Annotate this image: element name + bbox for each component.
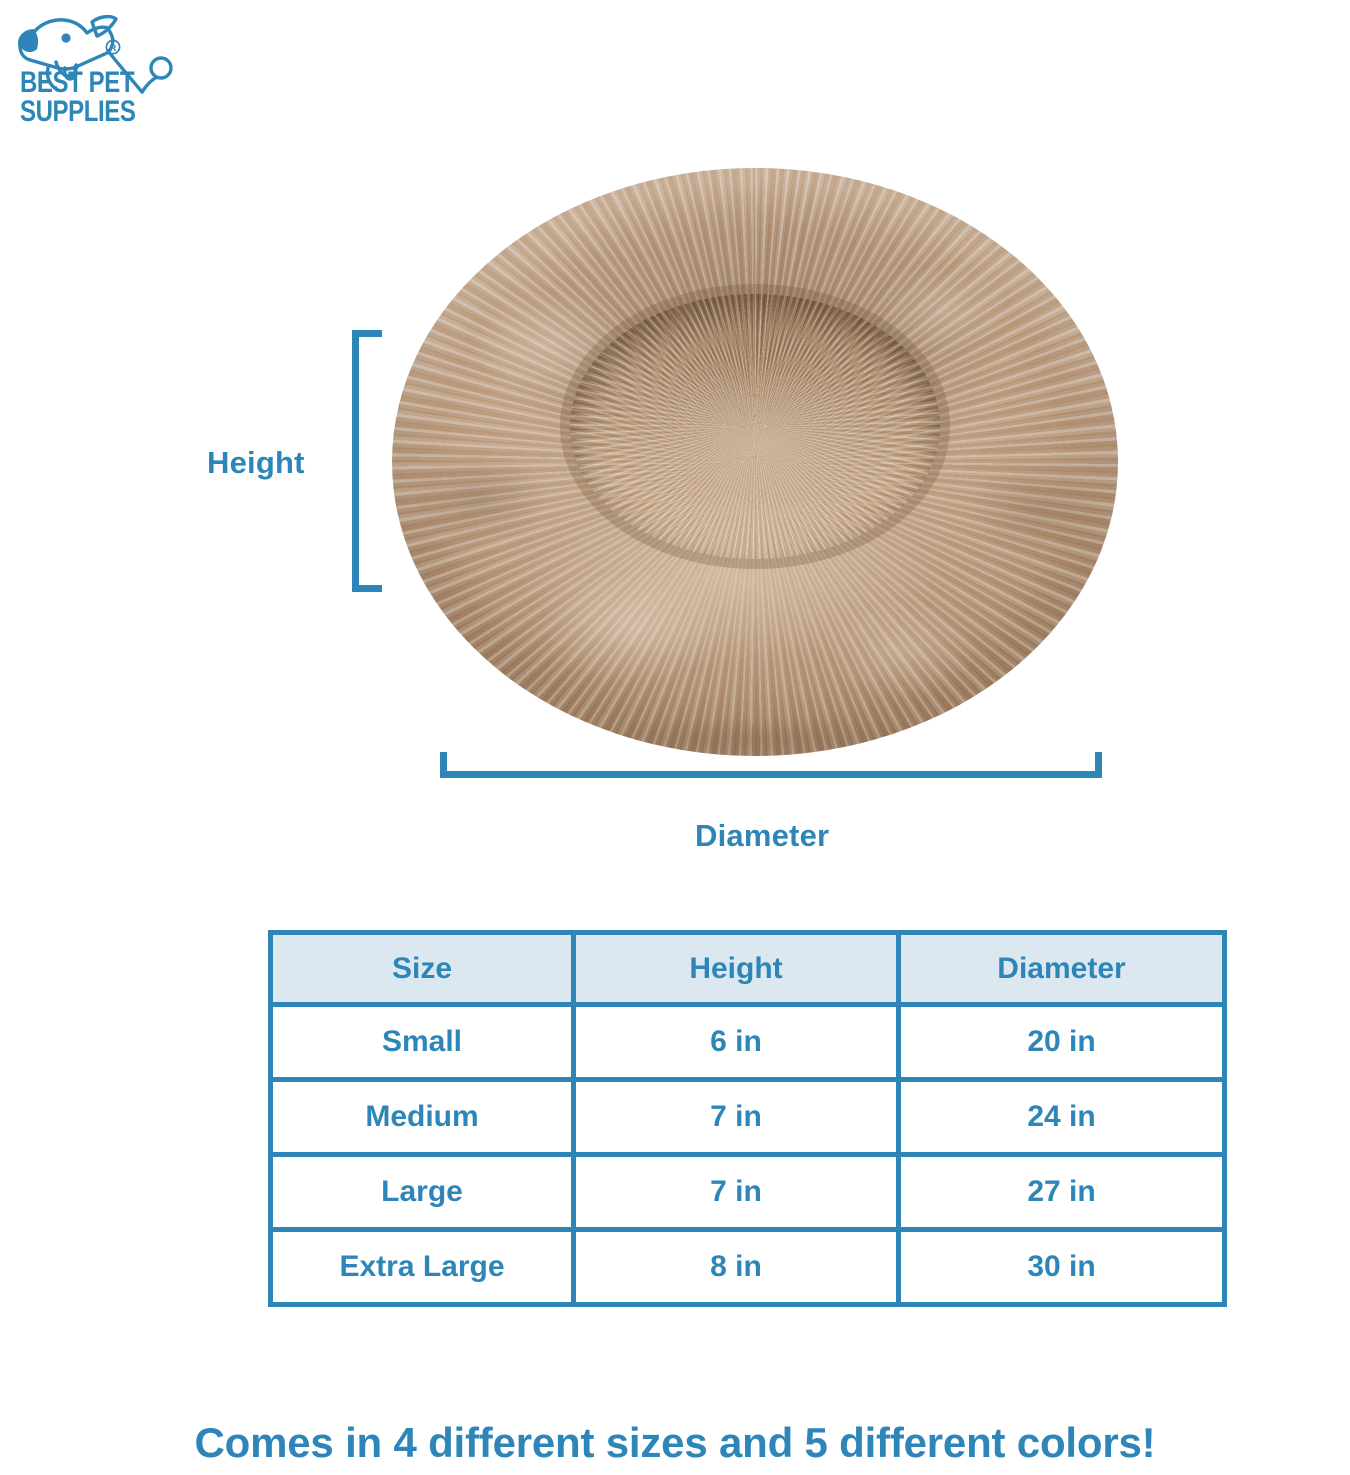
cell-size: Extra Large bbox=[271, 1230, 574, 1305]
cell-diameter: 20 in bbox=[899, 1005, 1225, 1080]
dog-eye-icon bbox=[61, 33, 70, 42]
table-row: Medium 7 in 24 in bbox=[271, 1080, 1225, 1155]
column-header-size: Size bbox=[271, 933, 574, 1005]
brand-name: BEST PET SUPPLIES bbox=[20, 68, 140, 126]
cell-height: 8 in bbox=[574, 1230, 899, 1305]
cushion-fur-texture bbox=[570, 294, 940, 559]
table-row: Small 6 in 20 in bbox=[271, 1005, 1225, 1080]
diameter-label: Diameter bbox=[695, 818, 829, 854]
cell-diameter: 24 in bbox=[899, 1080, 1225, 1155]
height-bracket bbox=[352, 330, 382, 592]
cell-diameter: 27 in bbox=[899, 1155, 1225, 1230]
cell-size: Large bbox=[271, 1155, 574, 1230]
cell-diameter: 30 in bbox=[899, 1230, 1225, 1305]
brand-logo: R BEST PET SUPPLIES bbox=[8, 6, 198, 136]
bed-inner-cushion bbox=[570, 294, 940, 559]
column-header-diameter: Diameter bbox=[899, 933, 1225, 1005]
table-row: Large 7 in 27 in bbox=[271, 1155, 1225, 1230]
table-row: Extra Large 8 in 30 in bbox=[271, 1230, 1225, 1305]
cell-height: 6 in bbox=[574, 1005, 899, 1080]
size-chart-table: Size Height Diameter Small 6 in 20 in Me… bbox=[268, 930, 1227, 1307]
table-header-row: Size Height Diameter bbox=[271, 933, 1225, 1005]
cell-size: Small bbox=[271, 1005, 574, 1080]
cell-height: 7 in bbox=[574, 1155, 899, 1230]
registered-trademark-icon: R bbox=[106, 40, 119, 53]
tagline-text: Comes in 4 different sizes and 5 differe… bbox=[0, 1419, 1350, 1467]
cell-size: Medium bbox=[271, 1080, 574, 1155]
column-header-height: Height bbox=[574, 933, 899, 1005]
bed-outer-bolster bbox=[392, 168, 1118, 756]
cell-height: 7 in bbox=[574, 1080, 899, 1155]
svg-text:R: R bbox=[110, 43, 117, 53]
height-label: Height bbox=[207, 445, 305, 481]
product-image-pet-bed bbox=[392, 168, 1118, 756]
diameter-bracket bbox=[440, 752, 1102, 778]
pet-bed-size-guide-infographic: R BEST PET SUPPLIES Height Diameter bbox=[0, 0, 1350, 1475]
